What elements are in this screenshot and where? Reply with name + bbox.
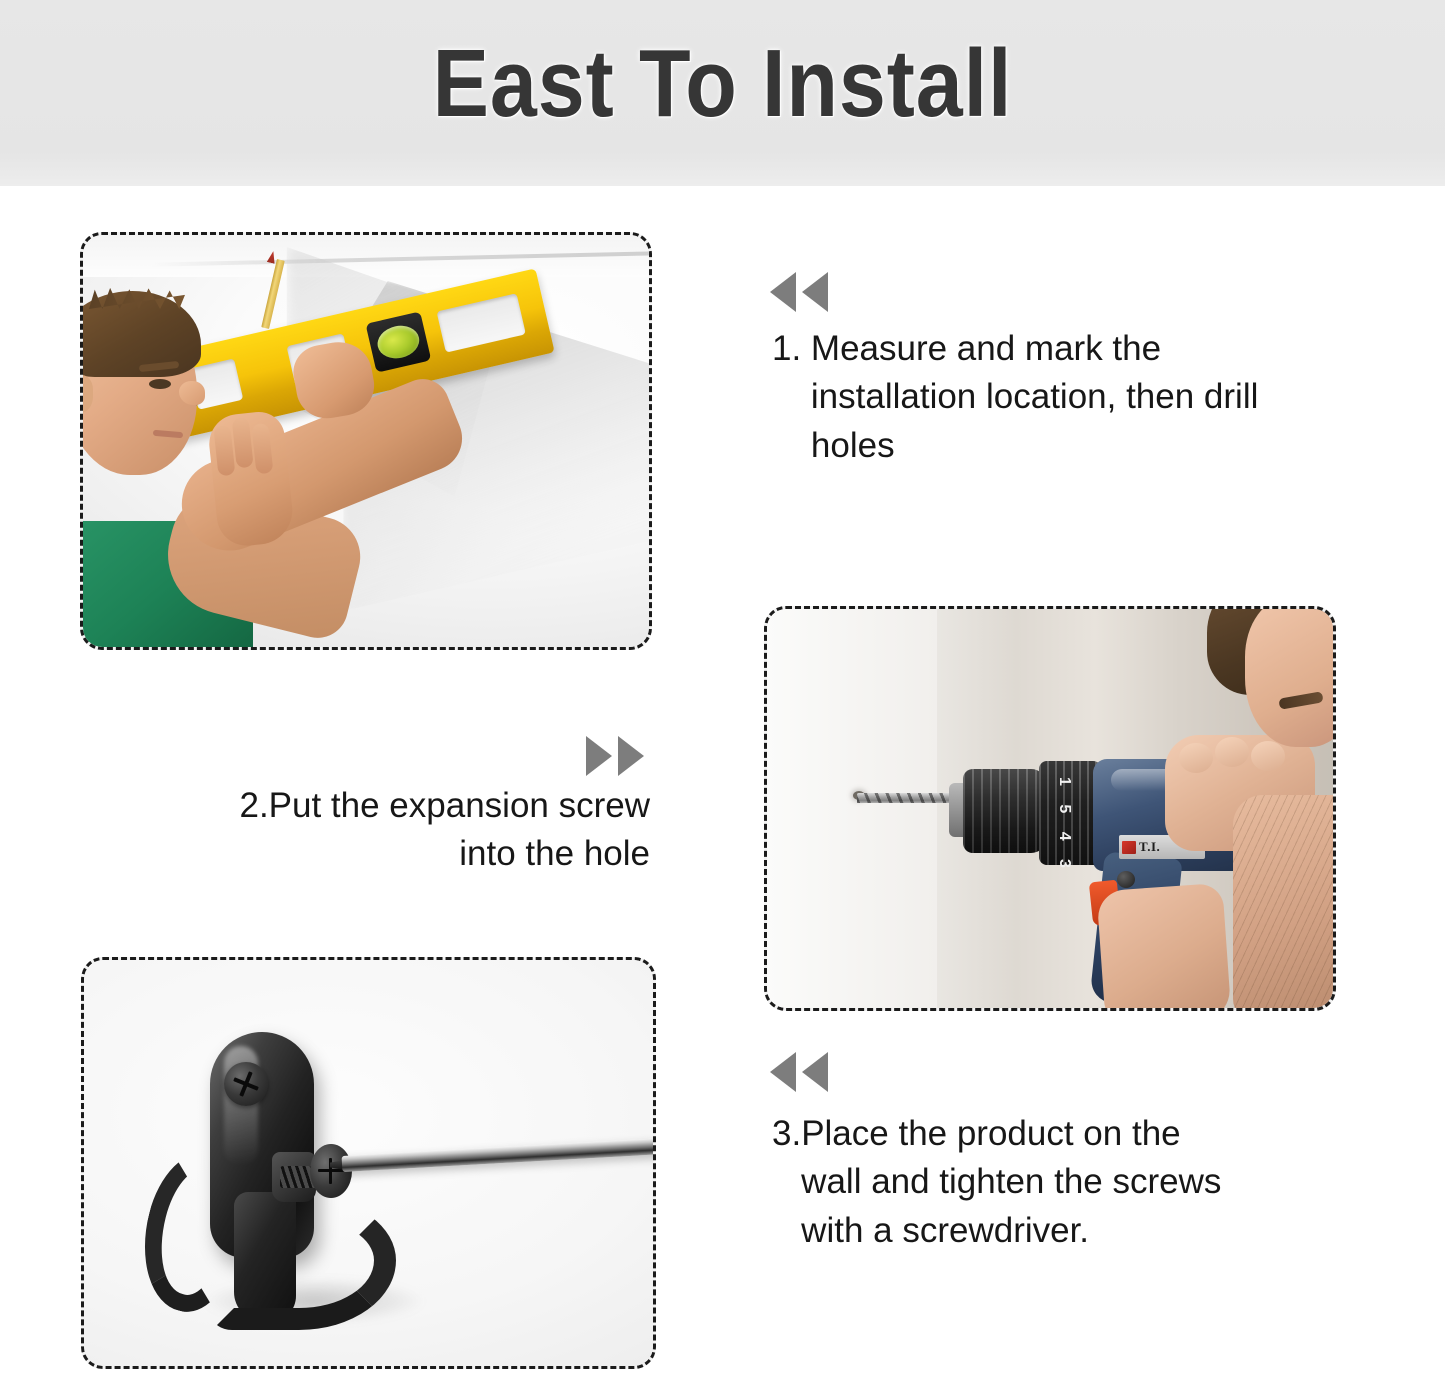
knuckle bbox=[1179, 743, 1213, 773]
top-screw bbox=[224, 1062, 268, 1106]
wall-highlight bbox=[767, 609, 937, 1008]
photo-mount-hook-content bbox=[84, 960, 653, 1366]
photo-measure-and-mark bbox=[80, 232, 652, 650]
step-3-line-3: with a screwdriver. bbox=[772, 1207, 1332, 1255]
page-title: East To Install bbox=[87, 34, 1359, 135]
knuckle bbox=[1251, 741, 1285, 771]
chevron-right-icon bbox=[586, 736, 612, 776]
chuck-ribs bbox=[963, 769, 1047, 853]
left-hand bbox=[206, 409, 295, 548]
chevron-left-icon bbox=[802, 272, 828, 312]
photo-mount-hook bbox=[81, 957, 656, 1369]
step-1-text: 1. Measure and mark the installation loc… bbox=[772, 325, 1372, 470]
chevron-right-icon bbox=[618, 736, 644, 776]
step-2-line-1: 2.Put the expansion screw bbox=[150, 782, 650, 830]
clutch-numbers: 1 5 4 3 bbox=[1055, 777, 1073, 875]
header-band: East To Install bbox=[0, 0, 1445, 186]
photo-measure-and-mark-content bbox=[83, 235, 649, 647]
step-1-line-2: installation location, then drill bbox=[772, 373, 1372, 421]
step-2-text: 2.Put the expansion screw into the hole bbox=[150, 782, 650, 879]
chevron-left-icon bbox=[770, 1052, 796, 1092]
drill-chuck bbox=[963, 769, 1047, 853]
step-3-line-1: 3.Place the product on the bbox=[772, 1110, 1332, 1158]
chevron-double-left-icon bbox=[770, 272, 828, 312]
step-2-line-2: into the hole bbox=[150, 830, 650, 878]
chevron-double-right-icon bbox=[586, 736, 644, 776]
chevron-left-icon bbox=[770, 272, 796, 312]
spirit-level-bubble bbox=[374, 322, 422, 363]
nose bbox=[179, 381, 205, 405]
finger bbox=[251, 423, 273, 475]
forearm bbox=[1233, 795, 1333, 1008]
finger bbox=[232, 417, 254, 469]
step-1-line-3: holes bbox=[772, 422, 1372, 470]
chevron-double-left-icon bbox=[770, 1052, 828, 1092]
drill-direction-button bbox=[1117, 871, 1135, 888]
photo-drill-hole: 1 5 4 3 T.I. bbox=[764, 606, 1336, 1011]
eye bbox=[149, 379, 171, 389]
screw-cross-slot bbox=[329, 1158, 332, 1184]
brand-label-text: T.I. bbox=[1139, 839, 1160, 855]
arm-hair-texture bbox=[1233, 795, 1333, 1008]
lower-hand bbox=[1096, 883, 1231, 1008]
knuckle bbox=[1215, 737, 1249, 767]
chevron-left-icon bbox=[802, 1052, 828, 1092]
step-3-text: 3.Place the product on the wall and tigh… bbox=[772, 1110, 1332, 1255]
brand-logo-icon bbox=[1122, 841, 1136, 854]
photo-drill-hole-content: 1 5 4 3 T.I. bbox=[767, 609, 1333, 1008]
step-3-line-2: wall and tighten the screws bbox=[772, 1158, 1332, 1206]
step-1-line-1: 1. Measure and mark the bbox=[772, 325, 1372, 373]
